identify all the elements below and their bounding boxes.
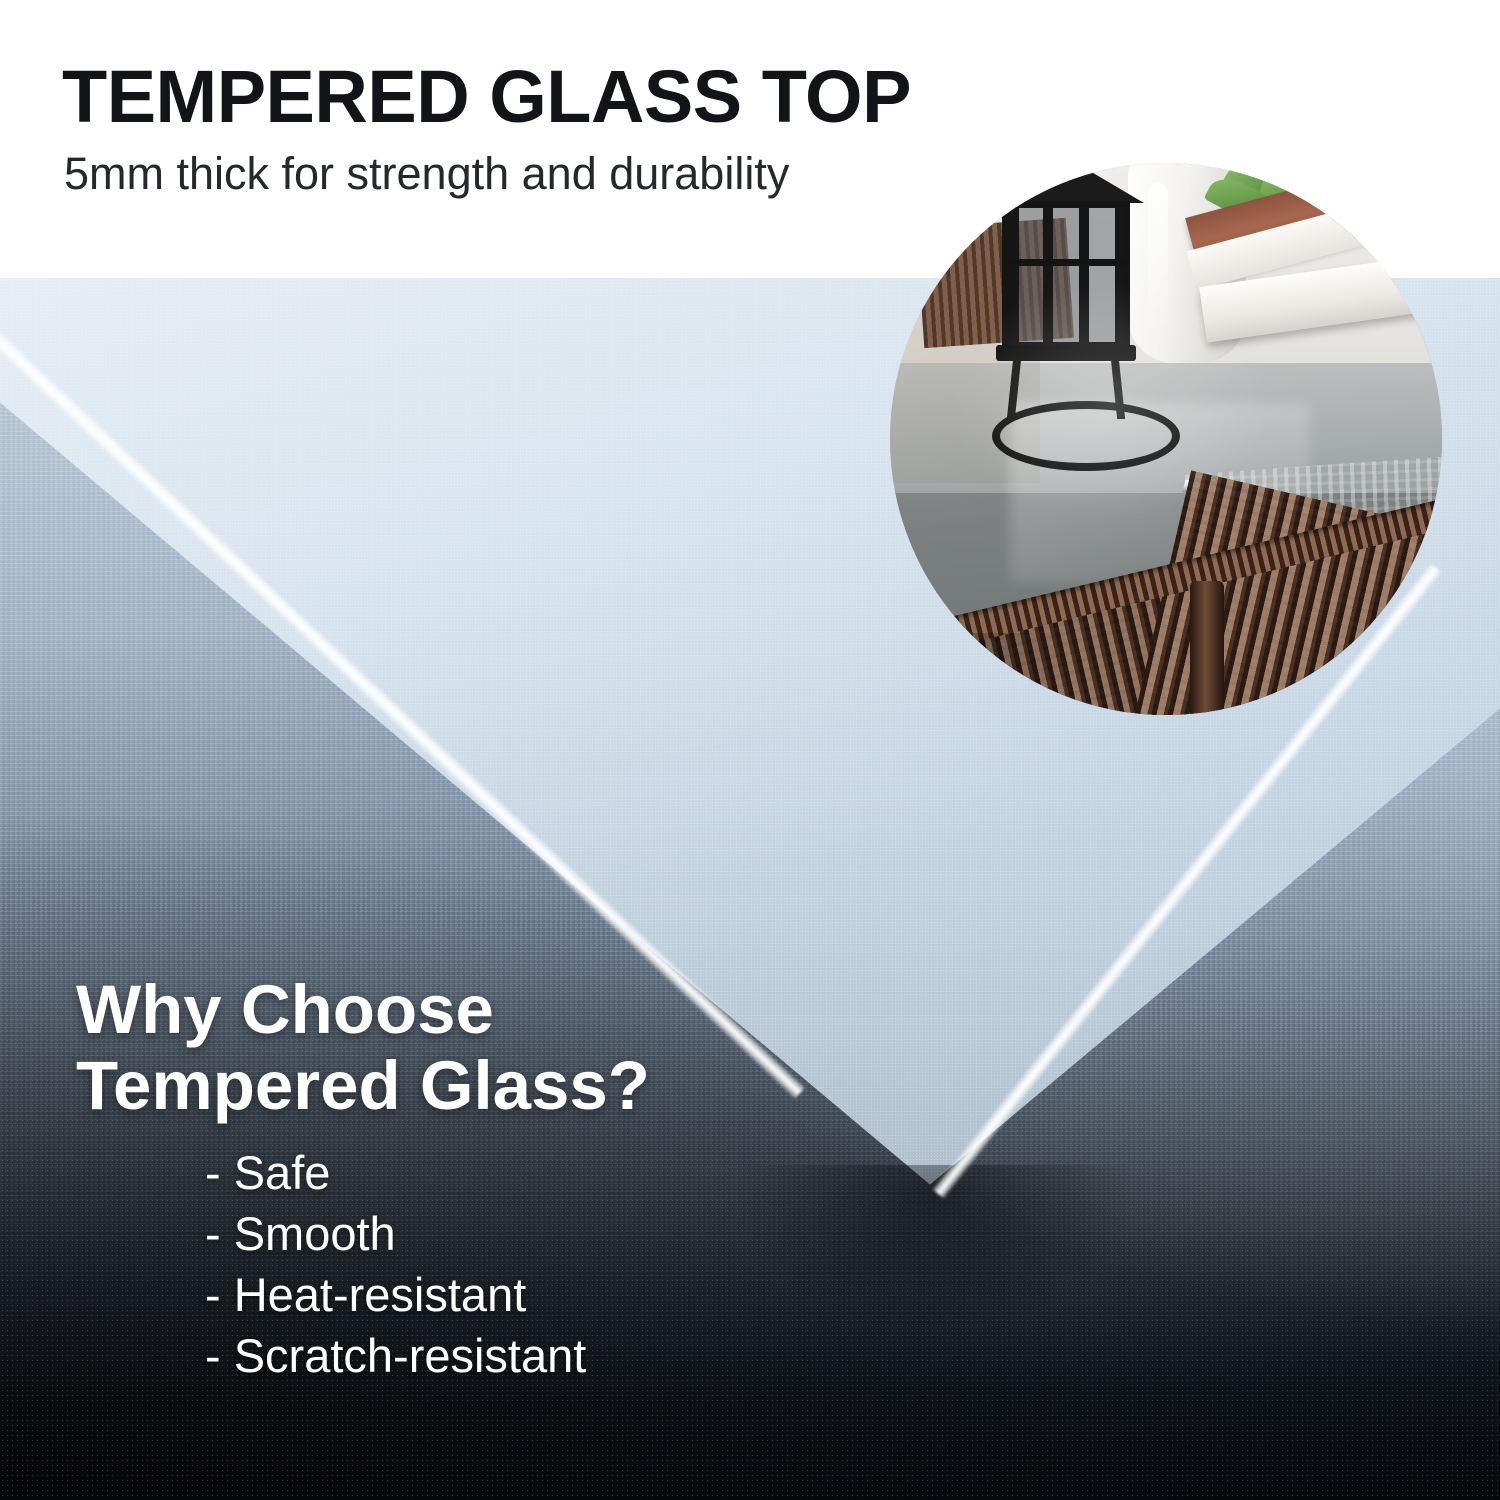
benefit-item-smooth: - Smooth [205,1203,586,1264]
infographic-canvas: TEMPERED GLASS TOP 5mm thick for strengt… [0,0,1500,1500]
page-subtitle: 5mm thick for strength and durability [64,146,789,202]
benefit-item-safe: - Safe [205,1142,586,1203]
photo-lantern-rail [1006,259,1126,266]
page-title: TEMPERED GLASS TOP [62,58,911,136]
benefits-heading: Why Choose Tempered Glass? [76,972,650,1124]
benefits-list: - Safe - Smooth - Heat-resistant - Scrat… [205,1142,586,1386]
product-photo-inset [890,163,1442,715]
photo-left-shadow [890,633,1070,715]
benefit-item-heat-resistant: - Heat-resistant [205,1264,586,1325]
glass-corner-shadow [700,1165,1170,1495]
photo-lantern-roof [988,163,1144,203]
photo-wicker-corner-post [1190,581,1224,715]
photo-highlight-glow [950,283,1270,523]
benefit-item-scratch-resistant: - Scratch-resistant [205,1325,586,1386]
